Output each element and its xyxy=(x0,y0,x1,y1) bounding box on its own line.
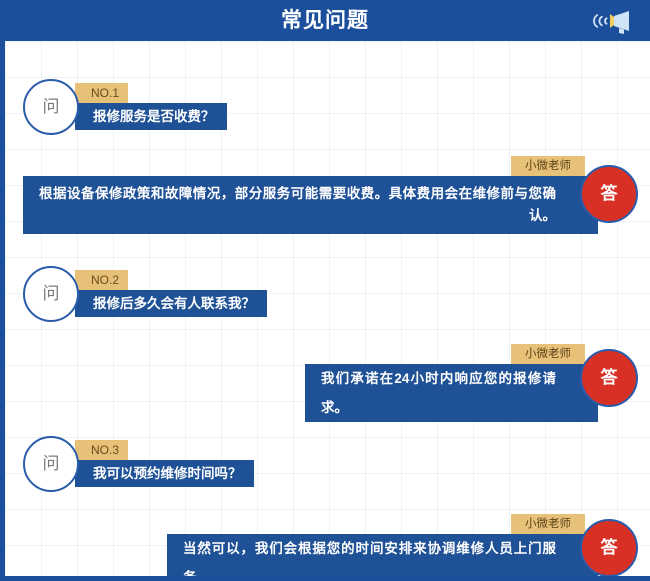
question-text-1[interactable]: 报修服务是否收费？ xyxy=(75,103,227,130)
megaphone-icon xyxy=(588,7,636,35)
answer-text-2[interactable]: 我们承诺在24小时内响应您的报修请求。 xyxy=(305,364,598,422)
answer-badge-label: 答 xyxy=(582,351,636,405)
answer-badge-1: 答 xyxy=(580,165,638,223)
question-number-2: NO.2 xyxy=(75,270,128,290)
answer-text-3[interactable]: 当然可以，我们会根据您的时间安排来协调维修人员上门服务。 xyxy=(167,534,598,581)
question-number-3: NO.3 xyxy=(75,440,128,460)
faq-body: 问 NO.1 报修服务是否收费？ 小微老师 根据设备保修政策和故障情况，部分服务… xyxy=(0,41,650,581)
question-badge-3: 问 xyxy=(23,436,79,492)
question-badge-2: 问 xyxy=(23,266,79,322)
question-text-2[interactable]: 报修后多久会有人联系我？ xyxy=(75,290,267,317)
answer-badge-label: 答 xyxy=(582,167,636,221)
faq-page: 常见问题 问 NO.1 报修服务 xyxy=(0,0,650,581)
page-title: 常见问题 xyxy=(0,0,650,41)
teacher-tag-3: 小微老师 xyxy=(511,514,585,534)
question-badge-label: 问 xyxy=(25,438,77,490)
answer-badge-label: 答 xyxy=(582,521,636,575)
question-number-1: NO.1 xyxy=(75,83,128,103)
answer-badge-3: 答 xyxy=(580,519,638,577)
question-badge-1: 问 xyxy=(23,79,79,135)
page-header: 常见问题 xyxy=(0,0,650,41)
question-badge-label: 问 xyxy=(25,268,77,320)
answer-text-1[interactable]: 根据设备保修政策和故障情况，部分服务可能需要收费。具体费用会在维修前与您确认。 xyxy=(23,176,598,234)
answer-badge-2: 答 xyxy=(580,349,638,407)
teacher-tag-1: 小微老师 xyxy=(511,156,585,176)
teacher-tag-2: 小微老师 xyxy=(511,344,585,364)
question-text-3[interactable]: 我可以预约维修时间吗？ xyxy=(75,460,254,487)
faq-content: 问 NO.1 报修服务是否收费？ 小微老师 根据设备保修政策和故障情况，部分服务… xyxy=(5,41,650,581)
question-badge-label: 问 xyxy=(25,81,77,133)
